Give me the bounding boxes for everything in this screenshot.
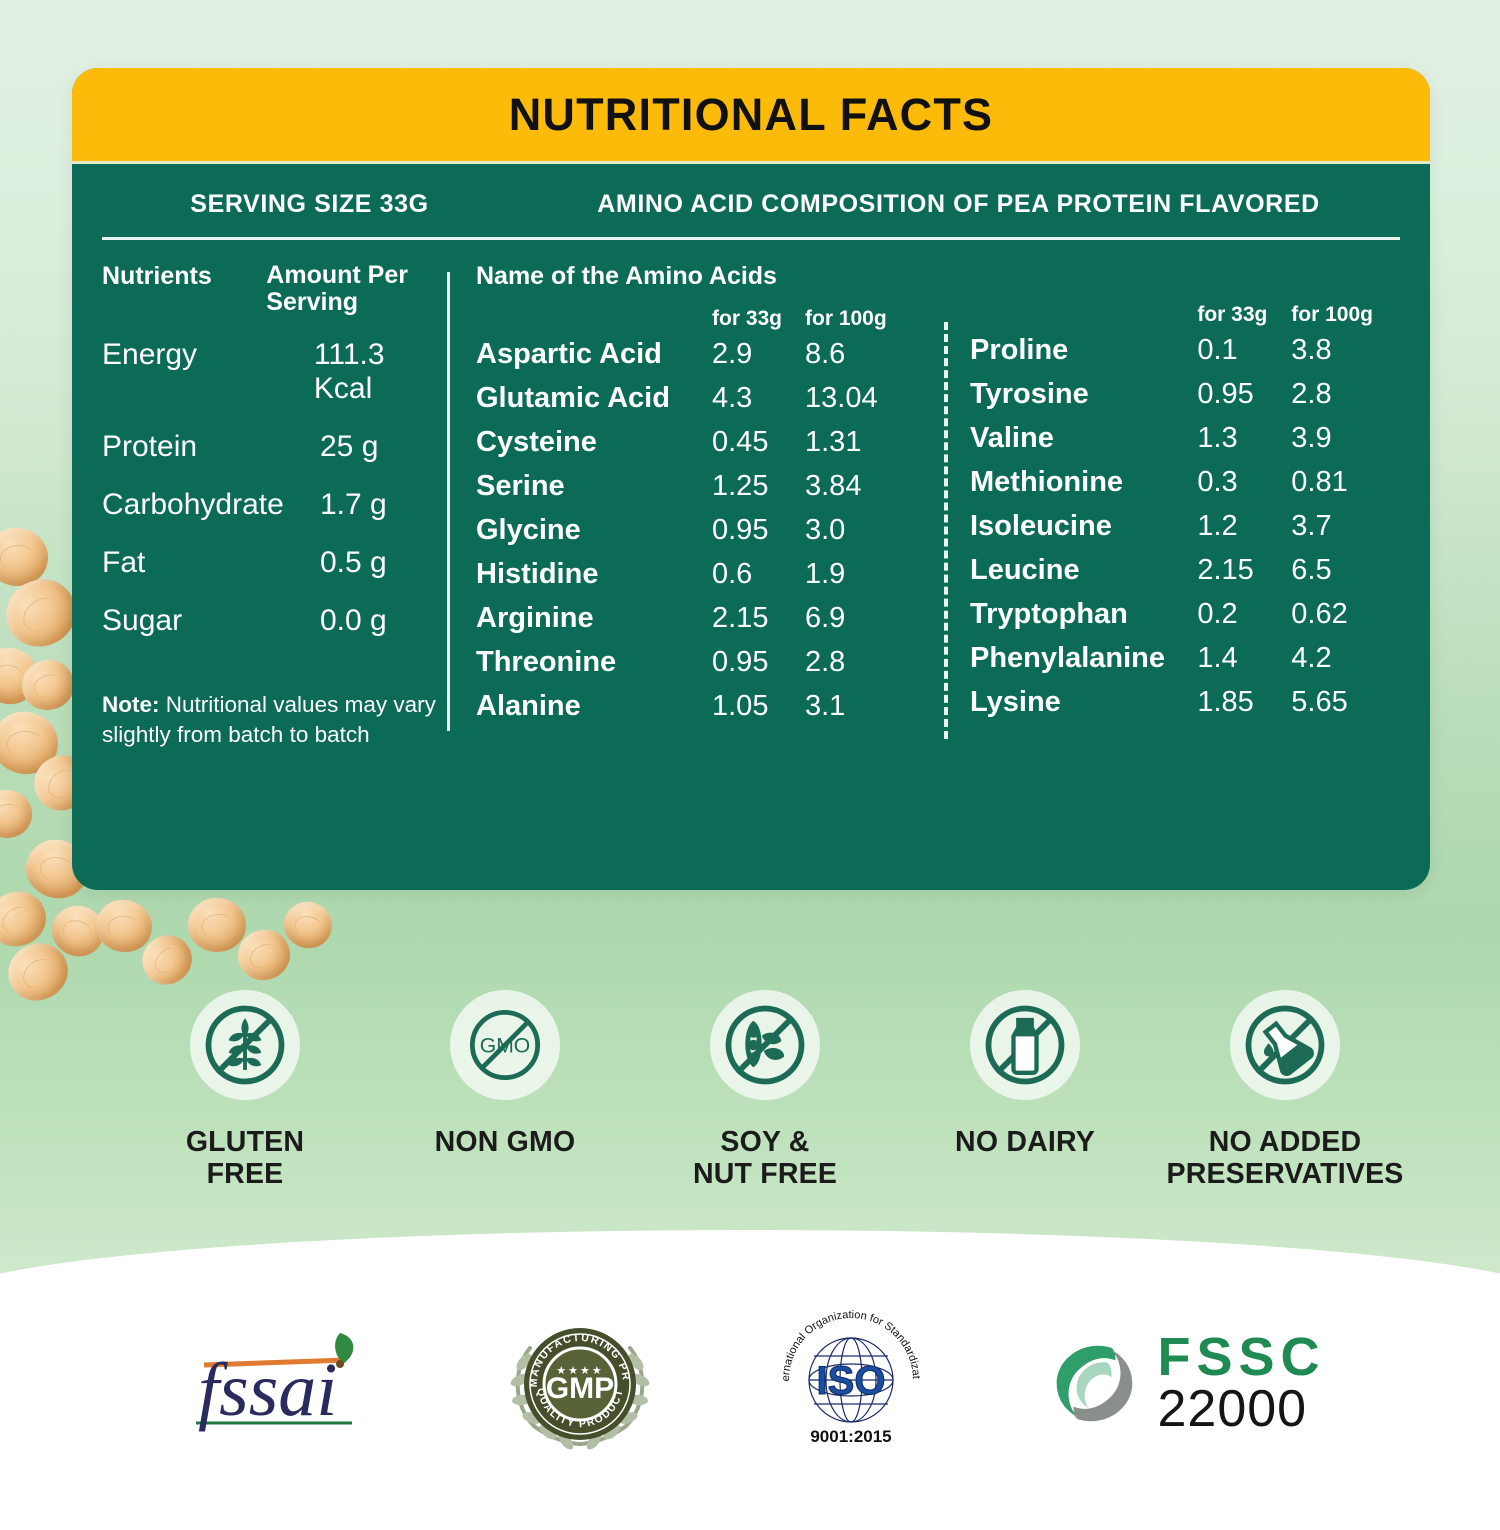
amino-100g: 2.8 [1291,378,1400,411]
no-preservatives-flask-icon [1237,997,1333,1093]
amino-name-col-header [970,303,1197,327]
feature-label: NO ADDED PRESERVATIVES [1166,1126,1403,1190]
cert-fssai: fssai [174,1323,404,1443]
unit-33g-header: for 33g [1197,303,1291,327]
unit-33g-header: for 33g [712,307,805,331]
feature-no-dairy: NO DAIRY [900,990,1150,1158]
amino-33g: 0.3 [1197,466,1291,499]
amino-name: Phenylalanine [970,642,1197,675]
unit-100g-header: for 100g [1291,303,1400,327]
nutrients-table-header: Nutrients Amount Per Serving [102,262,447,316]
table-row: Glycine 0.95 3.0 [476,514,936,547]
feature-non-gmo: GMO NON GMO [380,990,630,1158]
amino-units-header: for 33g for 100g [476,307,936,331]
table-row: Phenylalanine 1.4 4.2 [970,642,1400,675]
no-soy-nut-icon [717,997,813,1093]
amino-name: Serine [476,470,712,503]
table-row: Arginine 2.15 6.9 [476,602,936,635]
table-row: Glutamic Acid 4.3 13.04 [476,382,936,415]
amino-100g: 4.2 [1291,642,1400,675]
feature-soy-nut-free: SOY & NUT FREE [640,990,890,1190]
amino-column-right: for 33g for 100g Proline 0.1 3.8 Tyrosin… [970,262,1400,749]
amino-33g: 0.95 [712,646,805,679]
subheading-row: SERVING SIZE 33G AMINO ACID COMPOSITION … [72,164,1430,219]
cert-iso: International Organization for Standardi… [756,1308,946,1458]
svg-text:9001:2015: 9001:2015 [811,1427,892,1446]
table-row: Cysteine 0.45 1.31 [476,426,936,459]
amino-name: Methionine [970,466,1197,499]
table-row: Sugar 0.0 g [102,604,447,638]
amino-100g: 3.7 [1291,510,1400,543]
table-row: Energy 111.3 Kcal [102,338,447,406]
amino-33g: 2.15 [1197,554,1291,587]
card-header: NUTRITIONAL FACTS [72,68,1430,164]
amino-100g: 2.8 [805,646,915,679]
amount-col-header: Amount Per Serving [266,262,447,316]
amino-name: Histidine [476,558,712,591]
amino-100g: 3.1 [805,690,915,723]
cert-gmp: GOOD MANUFACTURING PRACTICE QUALITY PROD… [500,1308,660,1458]
note-label: Note: [102,692,160,717]
feature-label: NO DAIRY [955,1126,1095,1158]
nutrient-name: Carbohydrate [102,488,320,522]
feature-badges: GLUTEN FREE GMO NON GMO [120,990,1410,1190]
table-row: Aspartic Acid 2.9 8.6 [476,338,936,371]
amino-100g: 8.6 [805,338,915,371]
table-row: Protein 25 g [102,430,447,464]
amino-33g: 4.3 [712,382,805,415]
feature-gluten-free: GLUTEN FREE [120,990,370,1190]
feature-no-added-preservatives: NO ADDED PRESERVATIVES [1160,990,1410,1190]
batch-variation-note: Note: Nutritional values may vary slight… [102,690,447,749]
amino-33g: 0.1 [1197,334,1291,367]
amino-100g: 3.84 [805,470,915,503]
feature-label: GLUTEN FREE [186,1126,304,1190]
amino-composition-heading: AMINO ACID COMPOSITION OF PEA PROTEIN FL… [517,190,1400,219]
table-row: Isoleucine 1.2 3.7 [970,510,1400,543]
fssc-swirl-icon [1042,1331,1147,1436]
vertical-divider-solid [447,272,450,731]
amino-33g: 1.25 [712,470,805,503]
iso-9001-logo: International Organization for Standardi… [756,1308,946,1458]
amino-name: Glycine [476,514,712,547]
svg-text:GMP: GMP [546,1372,614,1405]
amino-33g: 0.6 [712,558,805,591]
amino-name: Proline [970,334,1197,367]
amino-100g: 6.5 [1291,554,1400,587]
table-row: Lysine 1.85 5.65 [970,686,1400,719]
unit-100g-header: for 100g [805,307,915,331]
amino-33g: 1.4 [1197,642,1291,675]
amino-name: Alanine [476,690,712,723]
amino-name: Arginine [476,602,712,635]
amino-100g: 1.9 [805,558,915,591]
serving-size-heading: SERVING SIZE 33G [102,190,517,219]
feature-label: NON GMO [435,1126,576,1158]
amino-name: Lysine [970,686,1197,719]
nutrient-amount: 0.5 g [320,546,387,580]
no-gluten-wheat-icon [197,997,293,1093]
table-row: Fat 0.5 g [102,546,447,580]
amino-column-left: Name of the Amino Acids for 33g for 100g… [476,262,936,749]
fssc-name: FSSC [1157,1331,1325,1384]
table-row: Histidine 0.6 1.9 [476,558,936,591]
amino-33g: 0.95 [712,514,805,547]
amino-name: Tryptophan [970,598,1197,631]
nutrient-name: Fat [102,546,320,580]
amino-33g: 1.3 [1197,422,1291,455]
nutrient-amount: 25 g [320,430,378,464]
svg-text:ISO: ISO [817,1359,886,1403]
amino-33g: 1.2 [1197,510,1291,543]
amino-name: Threonine [476,646,712,679]
amino-name: Isoleucine [970,510,1197,543]
amino-name: Leucine [970,554,1197,587]
cert-fssc: FSSC 22000 [1042,1331,1325,1436]
amino-100g: 13.04 [805,382,915,415]
table-row: Valine 1.3 3.9 [970,422,1400,455]
amino-name: Aspartic Acid [476,338,712,371]
nutrients-table: Nutrients Amount Per Serving Energy 111.… [102,262,447,749]
table-row: Methionine 0.3 0.81 [970,466,1400,499]
amino-name: Tyrosine [970,378,1197,411]
amino-100g: 5.65 [1291,686,1400,719]
amino-100g: 3.9 [1291,422,1400,455]
table-row: Proline 0.1 3.8 [970,334,1400,367]
table-row: Alanine 1.05 3.1 [476,690,936,723]
nutrition-card: NUTRITIONAL FACTS SERVING SIZE 33G AMINO… [72,68,1430,890]
svg-text:GMO: GMO [480,1035,530,1058]
no-dairy-bottle-icon [977,997,1073,1093]
svg-text:fssai: fssai [198,1348,337,1432]
table-row: Tryptophan 0.2 0.62 [970,598,1400,631]
nutrients-col-header: Nutrients [102,262,266,316]
amino-100g: 0.62 [1291,598,1400,631]
table-row: Carbohydrate 1.7 g [102,488,447,522]
fssc-label: FSSC 22000 [1157,1331,1325,1435]
amino-name: Cysteine [476,426,712,459]
amino-name: Valine [970,422,1197,455]
amino-name: Glutamic Acid [476,382,712,415]
amino-33g: 2.15 [712,602,805,635]
nutrient-amount: 0.0 g [320,604,387,638]
amino-acid-table: Name of the Amino Acids for 33g for 100g… [476,262,1400,749]
amino-33g: 1.05 [712,690,805,723]
nutrient-amount: 111.3 Kcal [314,338,448,406]
amino-33g: 0.45 [712,426,805,459]
nutrient-name: Energy [102,338,314,406]
amino-33g: 0.2 [1197,598,1291,631]
nutrient-name: Sugar [102,604,320,638]
certification-logos: fssai [0,1308,1500,1458]
table-row: Threonine 0.95 2.8 [476,646,936,679]
amino-100g: 3.0 [805,514,915,547]
nutrient-name: Protein [102,430,320,464]
tables-row: Nutrients Amount Per Serving Energy 111.… [72,240,1430,749]
no-gmo-icon: GMO [457,997,553,1093]
amino-table-title: Name of the Amino Acids [476,262,936,291]
fssai-logo: fssai [174,1323,404,1443]
amino-name-col-header [476,307,712,331]
amino-33g: 2.9 [712,338,805,371]
nutrient-amount: 1.7 g [320,488,387,522]
table-row: Serine 1.25 3.84 [476,470,936,503]
amino-100g: 3.8 [1291,334,1400,367]
gmp-seal-icon: GOOD MANUFACTURING PRACTICE QUALITY PROD… [500,1308,660,1458]
amino-33g: 0.95 [1197,378,1291,411]
amino-33g: 1.85 [1197,686,1291,719]
amino-units-header: for 33g for 100g [970,303,1400,327]
amino-100g: 6.9 [805,602,915,635]
vertical-divider-dashed [944,322,948,739]
table-row: Tyrosine 0.95 2.8 [970,378,1400,411]
amino-100g: 0.81 [1291,466,1400,499]
feature-label: SOY & NUT FREE [693,1126,837,1190]
amino-100g: 1.31 [805,426,915,459]
table-row: Leucine 2.15 6.5 [970,554,1400,587]
page-title: NUTRITIONAL FACTS [509,89,994,141]
fssc-number: 22000 [1157,1384,1325,1435]
